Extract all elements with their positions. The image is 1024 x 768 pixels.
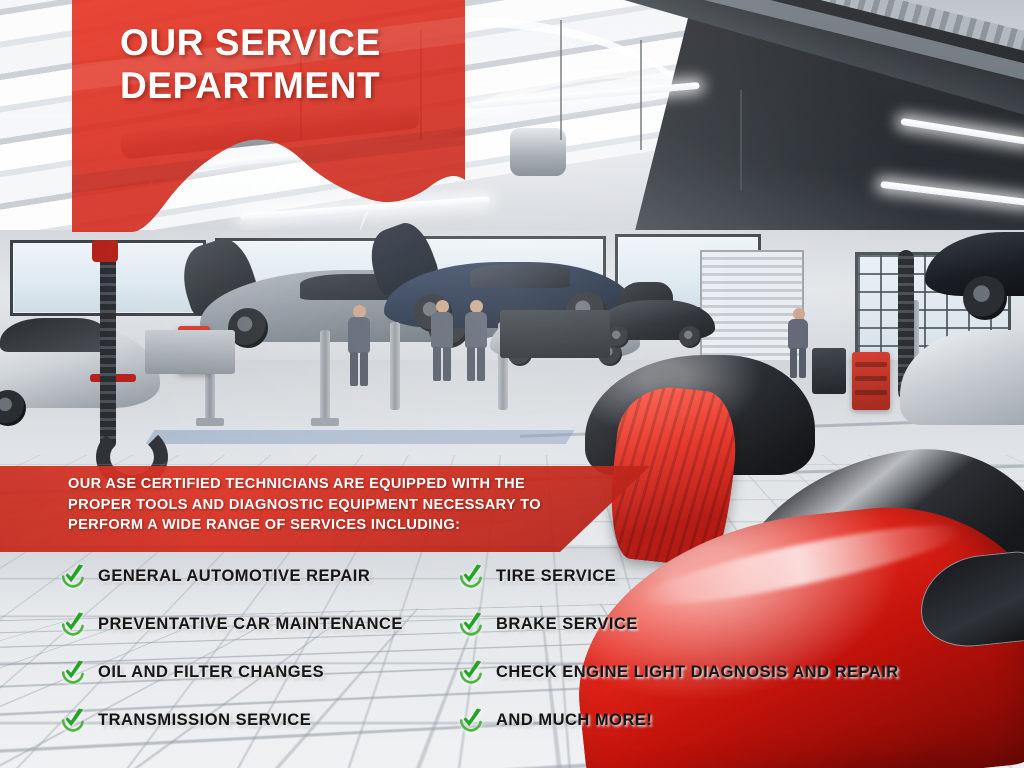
title-line-1: OUR SERVICE [120,22,381,63]
ventilation-duct-box [510,128,566,176]
green-check-icon [60,563,86,589]
technician-2-leg-l [433,347,441,381]
car-left-silver [0,318,160,428]
car-left-roofline [0,318,110,352]
green-check-icon [458,659,484,685]
service-label: AND MUCH MORE! [496,711,652,730]
vehicle-lift-post-2 [320,330,330,422]
technician-2-leg-r [443,347,451,381]
subtitle-line-2: PROPER TOOLS AND DIAGNOSTIC EQUIPMENT NE… [68,495,608,516]
technician-3-torso [465,312,487,348]
title-line-2: DEPARTMENT [120,65,450,108]
technician-1-leg-l [350,352,358,386]
technician-3-leg-r [477,347,485,381]
mid-dark-wheel-2 [679,326,701,348]
green-check-icon [60,659,86,685]
technician-4-torso [788,319,808,349]
list-item: AND MUCH MORE! [458,696,1018,744]
vehicle-lift-post-3 [390,322,400,410]
service-department-poster: OUR SERVICE DEPARTMENT OUR ASE CERTIFIED… [0,0,1024,768]
exhaust-extraction-hose [100,250,116,450]
car-mid-dark [595,288,715,350]
list-item: PREVENTATIVE CAR MAINTENANCE [60,600,460,648]
hanger-rod-4 [640,40,642,150]
technician-4 [786,308,812,378]
tool-drawer [855,376,887,381]
list-item: GENERAL AUTOMOTIVE REPAIR [60,552,460,600]
list-item: CHECK ENGINE LIGHT DIAGNOSIS AND REPAIR [458,648,1018,696]
services-column-right: TIRE SERVICE BRAKE SERVICE [458,552,1018,744]
service-label: PREVENTATIVE CAR MAINTENANCE [98,615,403,634]
green-check-icon [60,611,86,637]
subtitle-line-3: PERFORM A WIDE RANGE OF SERVICES INCLUDI… [68,515,608,536]
technician-2 [428,300,456,382]
services-column-left: GENERAL AUTOMOTIVE REPAIR PREVENTATIVE C… [60,552,460,744]
exhaust-hose-nozzle [92,240,118,262]
technician-3-leg-l [467,347,475,381]
mid-dark-wheel-1 [607,326,629,348]
vehicle-lift-base-2 [311,418,339,426]
list-item: OIL AND FILTER CHANGES [60,648,460,696]
workbench-dark [500,310,610,358]
vehicle-lift-base-1 [196,418,224,426]
technician-1-torso [348,317,370,353]
workbench-grey [145,330,235,374]
service-label: GENERAL AUTOMOTIVE REPAIR [98,567,370,586]
service-label: BRAKE SERVICE [496,615,638,634]
service-label: OIL AND FILTER CHANGES [98,663,324,682]
green-check-icon [60,707,86,733]
services-checklist: GENERAL AUTOMOTIVE REPAIR PREVENTATIVE C… [0,552,1024,768]
equipment-cart-dark [812,348,846,394]
page-title: OUR SERVICE DEPARTMENT [120,22,450,108]
suv-wheel-1 [963,276,1007,320]
technician-1 [345,305,373,387]
green-check-icon [458,707,484,733]
floor-blue-marking [146,430,575,444]
service-label: CHECK ENGINE LIGHT DIAGNOSIS AND REPAIR [496,663,899,682]
subtitle-line-1: OUR ASE CERTIFIED TECHNICIANS ARE EQUIPP… [68,474,608,495]
green-check-icon [458,611,484,637]
blue-car-window [470,264,570,288]
list-item: TIRE SERVICE [458,552,1018,600]
car-right-dark-suv [925,232,1024,332]
list-item: BRAKE SERVICE [458,600,1018,648]
technician-4-leg-l [790,348,797,378]
list-item: TRANSMISSION SERVICE [60,696,460,744]
service-label: TIRE SERVICE [496,567,616,586]
technician-3 [462,300,490,382]
technician-1-leg-r [360,352,368,386]
tool-drawer [855,362,887,367]
service-label: TRANSMISSION SERVICE [98,711,311,730]
hanger-rod-5 [740,90,742,190]
hanger-rod-3 [560,20,562,140]
technician-2-torso [431,312,453,348]
subtitle-text: OUR ASE CERTIFIED TECHNICIANS ARE EQUIPP… [68,474,608,536]
technician-4-leg-r [799,348,806,378]
green-check-icon [458,563,484,589]
